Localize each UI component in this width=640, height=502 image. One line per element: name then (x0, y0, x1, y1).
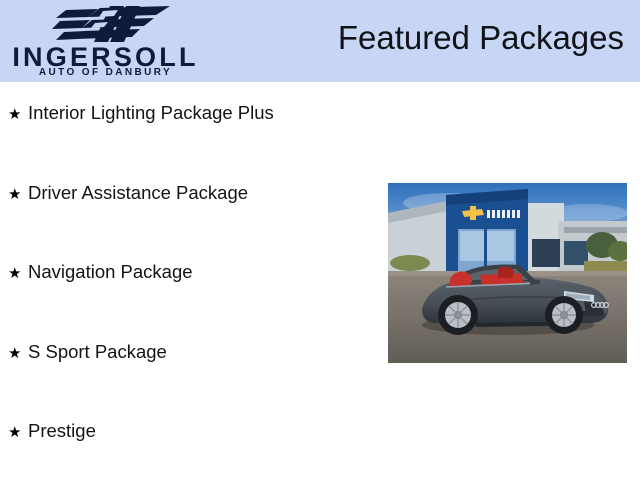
list-item-label: S Sport Package (28, 343, 167, 362)
dealer-tagline: AUTO OF DANBURY (8, 68, 203, 78)
vehicle-photo (388, 183, 627, 363)
page-title: Featured Packages (338, 18, 624, 58)
star-bullet-icon: ★ (8, 346, 28, 361)
ingersoll-winged-emblem-icon (48, 4, 178, 46)
list-item-label: Prestige (28, 422, 96, 441)
list-item-label: Navigation Package (28, 263, 193, 282)
star-bullet-icon: ★ (8, 187, 28, 202)
list-item: ★ S Sport Package (8, 343, 378, 423)
list-item: ★ Interior Lighting Package Plus (8, 104, 378, 184)
star-bullet-icon: ★ (8, 107, 28, 122)
star-bullet-icon: ★ (8, 266, 28, 281)
list-item: ★ Driver Assistance Package (8, 184, 378, 264)
list-item: ★ Prestige (8, 422, 378, 502)
list-item: ★ Navigation Package (8, 263, 378, 343)
slide-header: INGERSOLL AUTO OF DANBURY Featured Packa… (0, 0, 640, 82)
list-item-label: Driver Assistance Package (28, 184, 248, 203)
featured-packages-list: ★ Interior Lighting Package Plus ★ Drive… (8, 104, 378, 502)
star-bullet-icon: ★ (8, 425, 28, 440)
dealer-logo: INGERSOLL AUTO OF DANBURY (8, 2, 203, 80)
list-item-label: Interior Lighting Package Plus (28, 104, 274, 123)
